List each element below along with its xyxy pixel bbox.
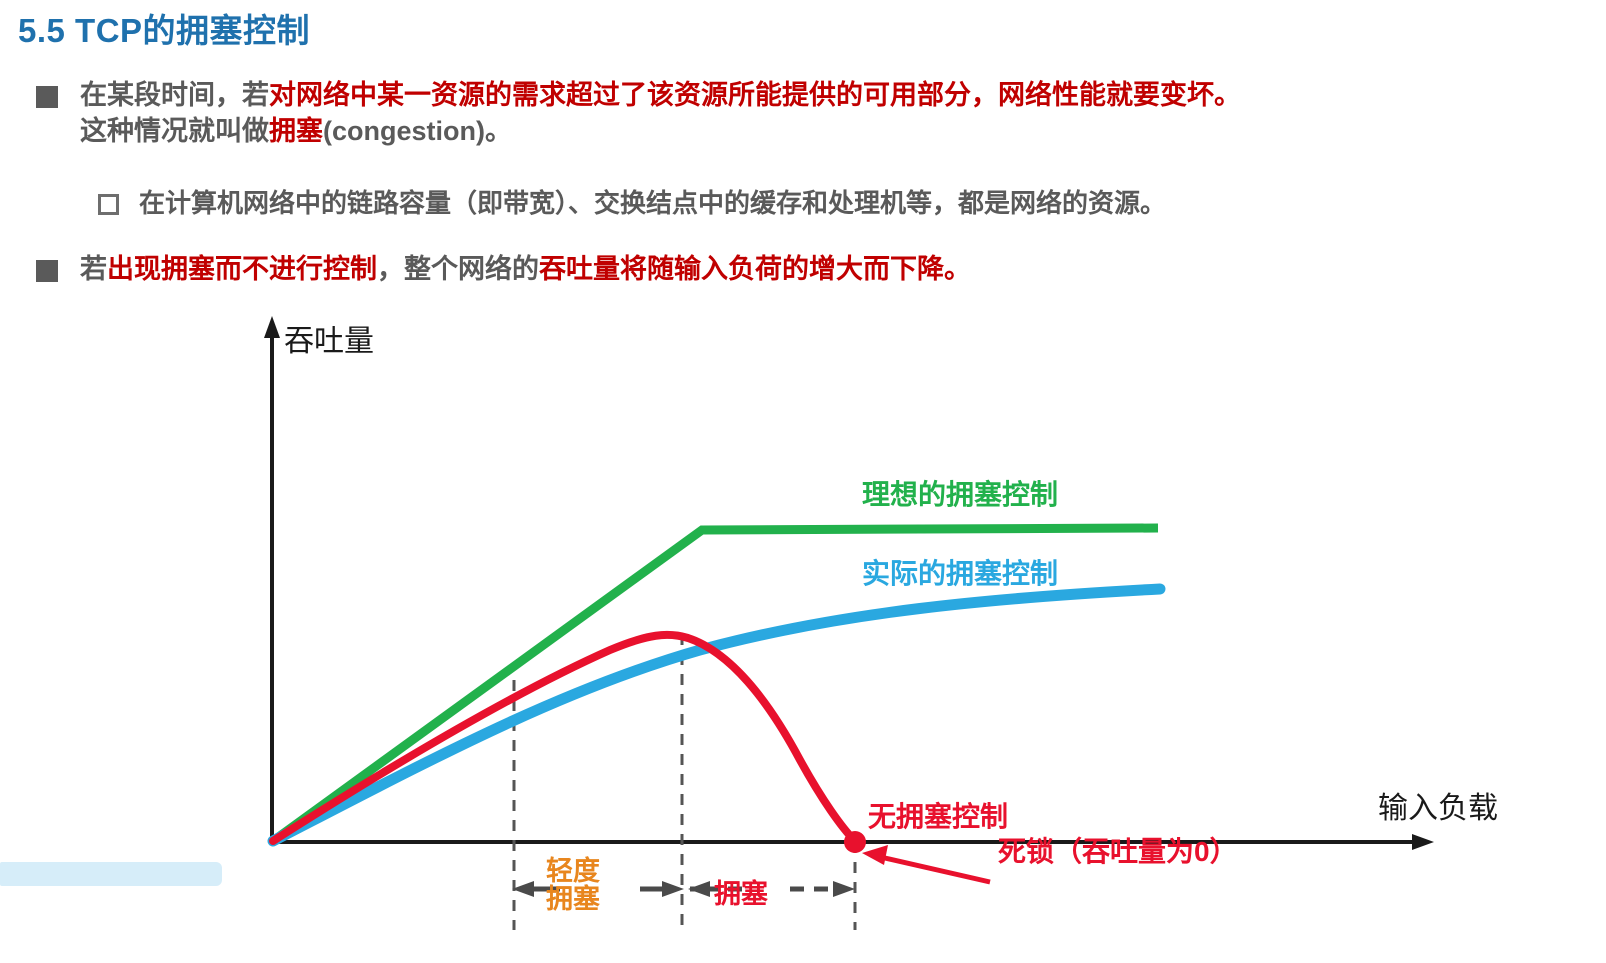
series-no-congestion-control <box>273 635 855 841</box>
region-label-congestion: 拥塞 <box>714 872 768 911</box>
deadlock-point-marker <box>844 831 866 853</box>
y-axis <box>264 316 280 842</box>
legend-label-actual: 实际的拥塞控制 <box>862 552 1058 592</box>
slide-root: 5.5 TCP的拥塞控制 在某段时间，若对网络中某一资源的需求超过了该资源所能提… <box>0 0 1606 963</box>
region-label-mild-congestion-line2: 拥塞 <box>546 885 600 913</box>
x-axis-label: 输入负载 <box>1378 783 1498 827</box>
measure-arrow-left-head <box>688 881 710 897</box>
y-axis-label: 吞吐量 <box>284 316 374 360</box>
legend-label-no-control: 无拥塞控制 <box>868 795 1008 835</box>
region-label-mild-congestion: 轻度 拥塞 <box>546 857 600 914</box>
series-actual-congestion-control <box>273 589 1160 841</box>
annotation-deadlock: 死锁（吞吐量为0） <box>998 830 1238 870</box>
chart-canvas <box>0 0 1606 963</box>
legend-label-ideal: 理想的拥塞控制 <box>862 473 1058 513</box>
measure-arrow-right-head <box>833 881 855 897</box>
deadlock-leader-line <box>862 845 990 882</box>
region-label-mild-congestion-line1: 轻度 <box>546 857 600 885</box>
